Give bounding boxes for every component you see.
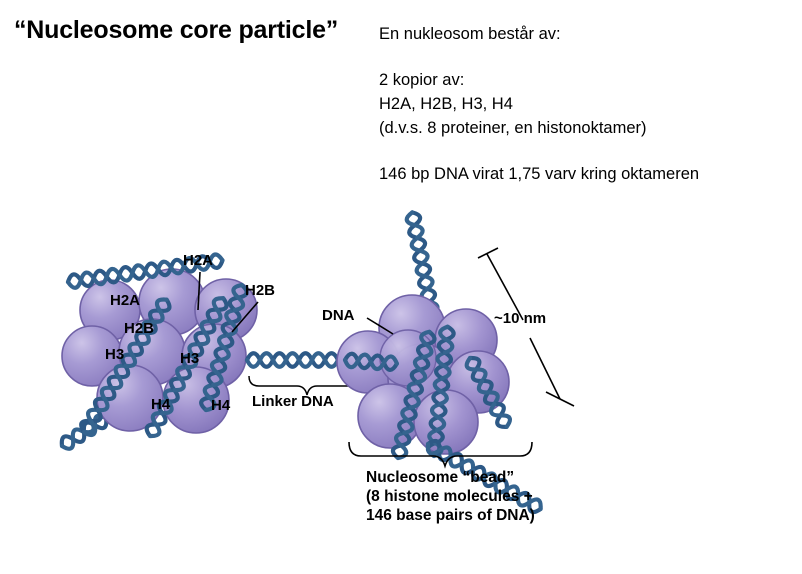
linker-dna-label: Linker DNA bbox=[252, 393, 334, 410]
histone-label-h2b: H2B bbox=[124, 320, 154, 337]
description-line-5: 146 bp DNA virat 1,75 varv kring oktamer… bbox=[379, 166, 779, 190]
nucleosome-diagram-svg bbox=[0, 210, 640, 574]
slide-canvas: “Nucleosome core particle” En nukleosom … bbox=[0, 0, 802, 574]
left-octamer-group bbox=[58, 254, 258, 510]
callout-label-dna: DNA bbox=[322, 307, 355, 324]
histone-label-h3-left: H3 bbox=[105, 346, 124, 363]
callout-label-h2a: H2A bbox=[183, 252, 213, 269]
description-line-4: (d.v.s. 8 proteiner, en histonoktamer) bbox=[379, 120, 779, 144]
description-line-3: H2A, H2B, H3, H4 bbox=[379, 96, 779, 120]
scale-label-10nm: ~10 nm bbox=[494, 310, 546, 327]
description-spacer-1 bbox=[379, 50, 779, 72]
histone-label-h3-right: H3 bbox=[180, 350, 199, 367]
page-title: “Nucleosome core particle” bbox=[14, 16, 338, 45]
bead-caption-line-1: Nucleosome “bead” bbox=[366, 468, 514, 487]
description-text-block: En nukleosom består av: 2 kopior av: H2A… bbox=[379, 26, 779, 190]
description-line-1: En nukleosom består av: bbox=[379, 26, 779, 50]
callout-label-h2b: H2B bbox=[245, 282, 275, 299]
nucleosome-diagram: H2A H2B H2A H2B H3 H3 H4 H4 Linker DNA D… bbox=[0, 210, 640, 574]
histone-label-h4-left: H4 bbox=[151, 396, 170, 413]
histone-label-h2a: H2A bbox=[110, 292, 140, 309]
bead-caption-line-3: 146 base pairs of DNA) bbox=[366, 506, 535, 525]
bead-caption-line-2: (8 histone molecules + bbox=[366, 487, 533, 506]
description-spacer-2 bbox=[379, 144, 779, 166]
description-line-2: 2 kopior av: bbox=[379, 72, 779, 96]
histone-label-h4-right: H4 bbox=[211, 397, 230, 414]
